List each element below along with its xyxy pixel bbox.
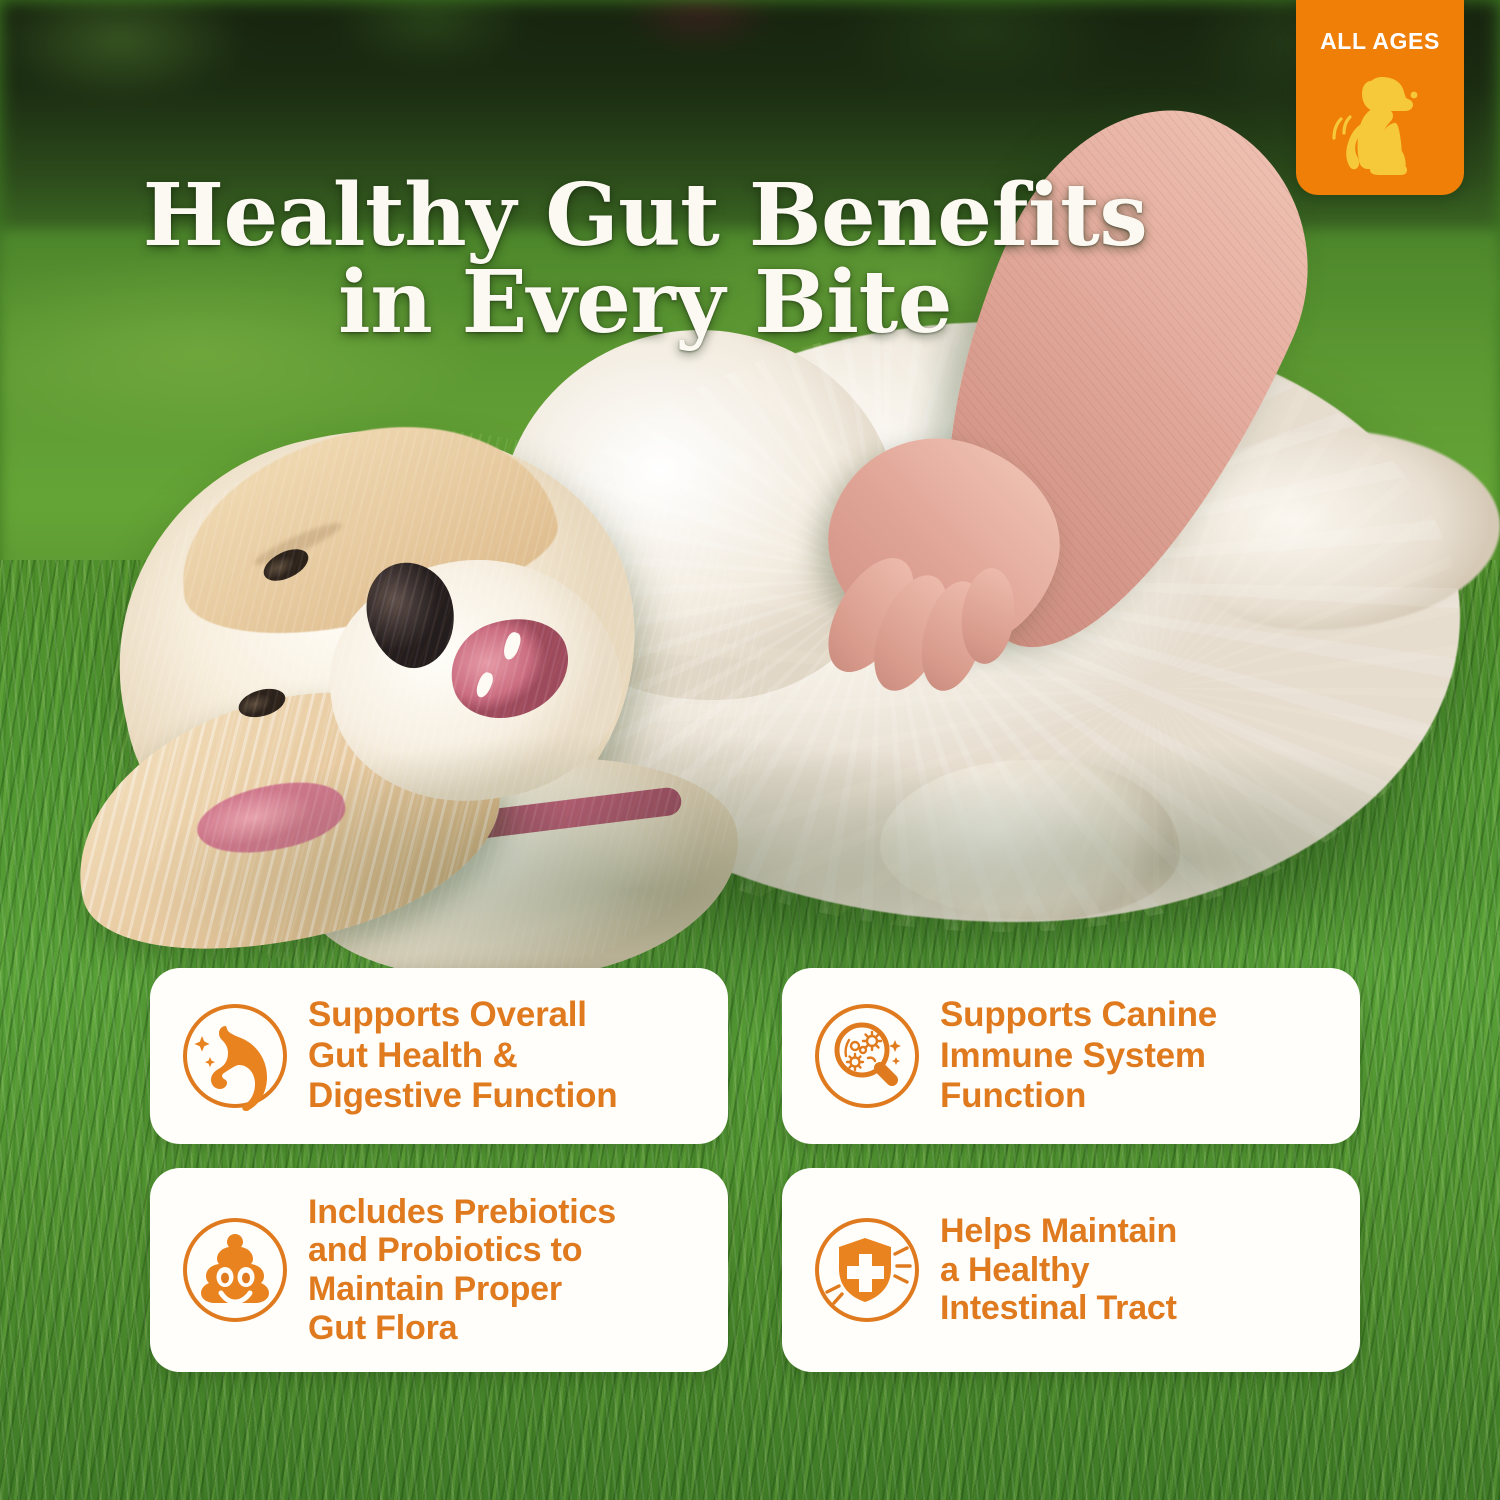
benefit-card-intestinal-tract[interactable]: Helps Maintain a Healthy Intestinal Trac… xyxy=(782,1168,1360,1372)
benefit-card-text: Supports Canine Immune System Function xyxy=(940,995,1217,1117)
benefit-card-text: Helps Maintain a Healthy Intestinal Trac… xyxy=(940,1212,1177,1328)
all-ages-badge: ALL AGES xyxy=(1296,0,1464,195)
sitting-dog-icon xyxy=(1320,61,1440,184)
product-benefits-poster: Healthy Gut Benefits in Every Bite ALL A… xyxy=(0,0,1500,1500)
benefit-card-text: Includes Prebiotics and Probiotics to Ma… xyxy=(308,1193,616,1348)
benefit-card-prebiotics-probiotics[interactable]: Includes Prebiotics and Probiotics to Ma… xyxy=(150,1168,728,1372)
benefit-card-immune-system[interactable]: Supports Canine Immune System Function xyxy=(782,968,1360,1144)
benefits-grid: Supports Overall Gut Health & Digestive … xyxy=(150,968,1360,1372)
shield-plus-icon xyxy=(808,1211,926,1329)
magnifier-germs-icon xyxy=(808,997,926,1115)
headline-line-1: Healthy Gut Benefits xyxy=(143,165,1148,266)
headline-line-2: in Every Bite xyxy=(0,259,1290,347)
headline: Healthy Gut Benefits in Every Bite xyxy=(0,84,1290,435)
benefit-card-gut-health[interactable]: Supports Overall Gut Health & Digestive … xyxy=(150,968,728,1144)
all-ages-label: ALL AGES xyxy=(1320,28,1440,55)
benefit-card-text: Supports Overall Gut Health & Digestive … xyxy=(308,995,618,1117)
stomach-icon xyxy=(176,997,294,1115)
poop-smile-icon xyxy=(176,1211,294,1329)
